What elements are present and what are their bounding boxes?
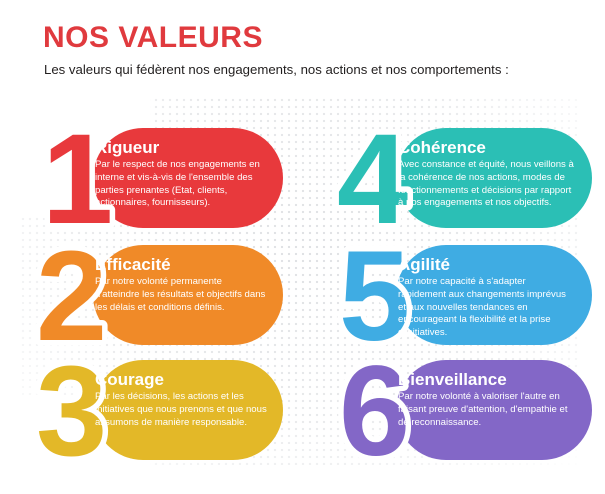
value-card-rigueur[interactable]: 1 Rigueur Par le respect de nos engageme…	[38, 128, 283, 228]
value-card-courage[interactable]: 3 Courage Par les décisions, les actions…	[38, 360, 283, 460]
value-card-description: Avec constance et équité, nous veillons …	[398, 159, 576, 210]
page-subtitle: Les valeurs qui fédèrent nos engagements…	[44, 63, 509, 76]
value-card-content: Agilité Par notre capacité à s'adapter r…	[398, 255, 576, 340]
value-card-title: Courage	[95, 370, 267, 389]
value-card-content: Efficacité Par notre volonté permanente …	[95, 255, 267, 314]
value-card-content: Rigueur Par le respect de nos engagement…	[95, 138, 267, 210]
value-card-title: Rigueur	[95, 138, 267, 157]
value-card-title: Cohérence	[398, 138, 576, 157]
value-card-title: Efficacité	[95, 255, 267, 274]
value-card-agilite[interactable]: 5 Agilité Par notre capacité à s'adapter…	[341, 245, 592, 345]
value-card-content: Cohérence Avec constance et équité, nous…	[398, 138, 576, 210]
value-card-content: Courage Par les décisions, les actions e…	[95, 370, 267, 429]
value-card-content: Bienveillance Par notre volonté à valori…	[398, 370, 576, 429]
value-card-title: Bienveillance	[398, 370, 576, 389]
value-card-description: Par notre volonté à valoriser l'autre en…	[398, 391, 576, 429]
value-card-description: Par les décisions, les actions et les in…	[95, 391, 267, 429]
value-card-title: Agilité	[398, 255, 576, 274]
page-title: NOS VALEURS	[43, 23, 263, 53]
value-card-coherence[interactable]: 4 Cohérence Avec constance et équité, no…	[341, 128, 592, 228]
value-card-description: Par notre volonté permanente d'atteindre…	[95, 276, 267, 314]
value-card-description: Par notre capacité à s'adapter rapidemen…	[398, 276, 576, 340]
value-card-efficacite[interactable]: 2 Efficacité Par notre volonté permanent…	[38, 245, 283, 345]
value-card-description: Par le respect de nos engagements en int…	[95, 159, 267, 210]
value-card-bienveillance[interactable]: 6 Bienveillance Par notre volonté à valo…	[341, 360, 592, 460]
